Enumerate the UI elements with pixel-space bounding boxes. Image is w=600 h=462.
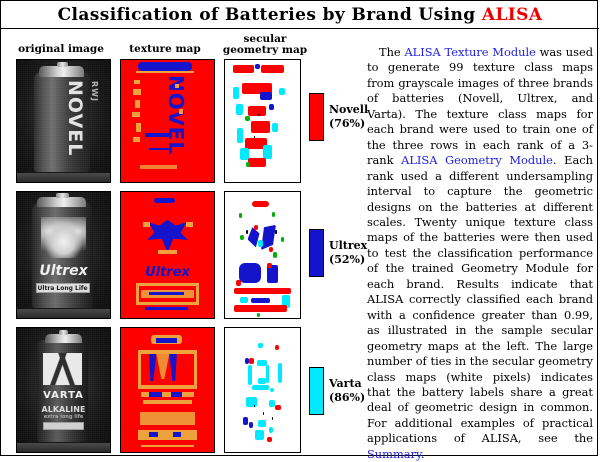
paragraph-text-3: . Each rank used a different undersampli…	[367, 153, 593, 445]
texture-map-novell: NOVEL	[120, 59, 215, 183]
legend-percent-ultrex: (52%)	[329, 253, 367, 267]
legend-brand-ultrex: Ultrex	[329, 239, 367, 252]
column-header-geometry-line2: geometry map	[217, 45, 313, 56]
column-header-texture-map: texture map	[115, 44, 215, 55]
link-alisa-texture-module[interactable]: ALISA Texture Module	[404, 45, 535, 59]
description-paragraph: The ALISA Texture Module was used to gen…	[367, 45, 593, 449]
legend-varta: Varta (86%)	[309, 367, 365, 415]
page-title-main: Classification of Batteries by Brand Usi…	[58, 5, 482, 25]
secular-geometry-map-varta	[224, 327, 301, 453]
legend-swatch-novell	[309, 93, 324, 141]
legend-swatch-varta	[309, 367, 324, 415]
texture-map-varta	[120, 327, 215, 453]
original-image-novell: NOVEL RWJ	[16, 59, 111, 183]
column-header-original-image: original image	[11, 44, 111, 55]
legend-text-varta: Varta (86%)	[329, 377, 365, 405]
page-title-accent: ALISA	[482, 5, 543, 25]
legend-text-novell: Novell (76%)	[329, 103, 368, 131]
title-divider	[1, 28, 599, 29]
legend-novell: Novell (76%)	[309, 93, 368, 141]
legend-brand-novell: Novell	[329, 103, 368, 116]
texture-map-ultrex: Ultrex	[120, 191, 215, 319]
legend-swatch-ultrex	[309, 229, 324, 277]
paragraph-text-1: The	[379, 45, 404, 59]
original-image-varta: VARTA ALKALINE extra long life	[16, 327, 111, 453]
figure-page: Classification of Batteries by Brand Usi…	[0, 0, 598, 456]
legend-text-ultrex: Ultrex (52%)	[329, 239, 367, 267]
column-header-secular-geometry-map: secular geometry map	[217, 34, 313, 56]
legend-brand-varta: Varta	[329, 377, 362, 390]
paragraph-text-4: .	[421, 447, 425, 461]
legend-percent-varta: (86%)	[329, 391, 365, 405]
original-image-ultrex: Ultrex Ultra Long Life	[16, 191, 111, 319]
paragraph-text-2: was used to generate 99 texture class ma…	[367, 45, 593, 167]
page-title: Classification of Batteries by Brand Usi…	[1, 5, 599, 25]
legend-percent-novell: (76%)	[329, 117, 368, 131]
legend-ultrex: Ultrex (52%)	[309, 229, 367, 277]
texture-brand-text-ultrex: Ultrex	[121, 265, 214, 280]
secular-geometry-map-novell	[224, 59, 301, 183]
secular-geometry-map-ultrex	[224, 191, 301, 319]
link-alisa-geometry-module[interactable]: ALISA Geometry Module	[401, 153, 553, 167]
link-summary[interactable]: Summary	[367, 447, 421, 461]
